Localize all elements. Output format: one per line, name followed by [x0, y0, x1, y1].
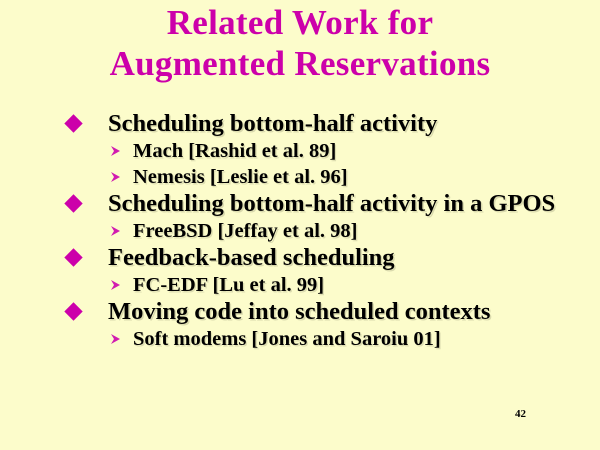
arrow-bullet-icon: [108, 223, 124, 239]
bullet-level1-label: Scheduling bottom-half activity in a GPO…: [108, 190, 555, 217]
bullet-group: Scheduling bottom-half activity in a GPO…: [0, 190, 600, 244]
bullet-item-level1: Scheduling bottom-half activity: [0, 110, 600, 137]
bullet-level2-label: Nemesis [Leslie et al. 96]: [133, 166, 348, 188]
bullet-level1-label: Scheduling bottom-half activity: [108, 110, 437, 137]
bullet-level2-label: Soft modems [Jones and Saroiu 01]: [133, 328, 441, 350]
bullet-level2-label: Mach [Rashid et al. 89]: [133, 140, 336, 162]
bullet-level1-label: Feedback-based scheduling: [108, 244, 395, 271]
bullet-group: Feedback-based scheduling FC-EDF [Lu et …: [0, 244, 600, 298]
arrow-bullet-icon: [108, 331, 124, 347]
slide-page-number: 42: [515, 408, 526, 421]
bullet-item-level2: FC-EDF [Lu et al. 99]: [0, 272, 600, 298]
slide-body: Scheduling bottom-half activity Mach [Ra…: [0, 110, 600, 352]
diamond-bullet-icon: [64, 302, 82, 320]
presentation-slide: Related Work for Augmented Reservations …: [0, 0, 600, 450]
bullet-item-level2: FreeBSD [Jeffay et al. 98]: [0, 218, 600, 244]
bullet-item-level2: Soft modems [Jones and Saroiu 01]: [0, 326, 600, 352]
diamond-bullet-icon: [64, 248, 82, 266]
diamond-bullet-icon: [64, 114, 82, 132]
arrow-bullet-icon: [108, 143, 124, 159]
bullet-item-level1: Feedback-based scheduling: [0, 244, 600, 271]
slide-title: Related Work for Augmented Reservations: [0, 2, 600, 84]
slide-title-line-1: Related Work for: [0, 2, 600, 43]
bullet-item-level2: Mach [Rashid et al. 89]: [0, 138, 600, 164]
bullet-group: Moving code into scheduled contexts Soft…: [0, 298, 600, 352]
bullet-item-level1: Scheduling bottom-half activity in a GPO…: [0, 190, 600, 217]
bullet-level2-label: FreeBSD [Jeffay et al. 98]: [133, 220, 357, 242]
bullet-group: Scheduling bottom-half activity Mach [Ra…: [0, 110, 600, 190]
slide-title-line-2: Augmented Reservations: [0, 43, 600, 84]
arrow-bullet-icon: [108, 169, 124, 185]
bullet-level1-label: Moving code into scheduled contexts: [108, 298, 490, 325]
bullet-item-level1: Moving code into scheduled contexts: [0, 298, 600, 325]
arrow-bullet-icon: [108, 277, 124, 293]
diamond-bullet-icon: [64, 194, 82, 212]
bullet-level2-label: FC-EDF [Lu et al. 99]: [133, 274, 324, 296]
bullet-item-level2: Nemesis [Leslie et al. 96]: [0, 164, 600, 190]
